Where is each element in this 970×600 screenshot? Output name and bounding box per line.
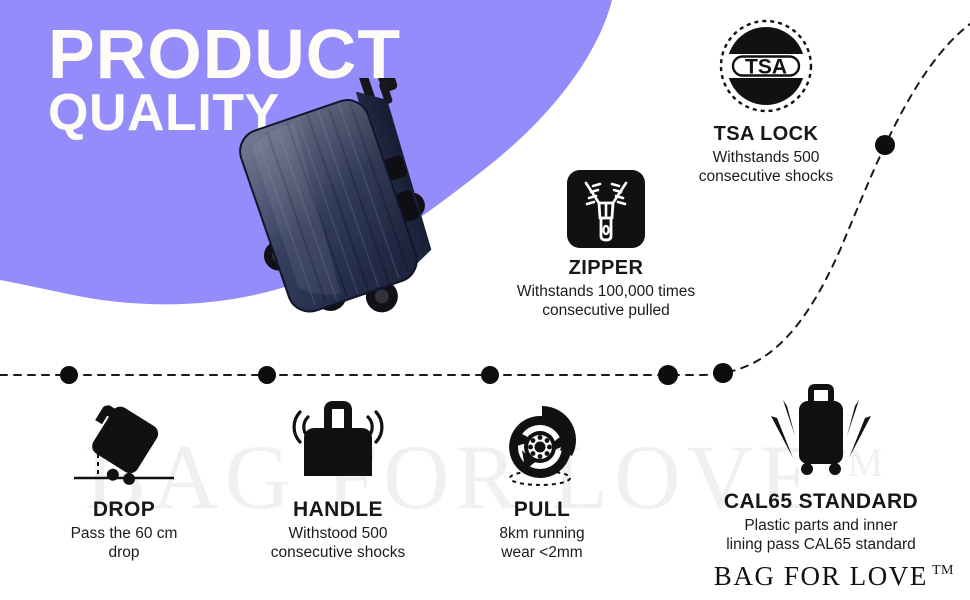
title-line-product: PRODUCT bbox=[48, 22, 401, 86]
feature-description: Pass the 60 cm drop bbox=[28, 525, 220, 563]
brand-logo: BAG FOR LOVETM bbox=[714, 561, 954, 592]
shaking-handle-bag-icon bbox=[274, 398, 402, 490]
feature-pull[interactable]: PULL 8km running wear <2mm bbox=[452, 398, 632, 563]
feature-description: Withstands 100,000 times consecutive pul… bbox=[470, 283, 742, 320]
brand-name: BAG FOR LOVE bbox=[714, 561, 928, 591]
feature-handle[interactable]: HANDLE Withstood 500 consecutive shocks bbox=[240, 398, 436, 563]
feature-drop[interactable]: DROP Pass the 60 cm drop bbox=[28, 398, 220, 563]
impact-spikes-left bbox=[771, 400, 795, 458]
feature-cal65[interactable]: CAL65 STANDARD Plastic parts and inner l… bbox=[672, 382, 970, 555]
feature-description: Withstood 500 consecutive shocks bbox=[240, 525, 436, 563]
brand-tm: TM bbox=[932, 563, 954, 578]
feature-description: Plastic parts and inner lining pass CAL6… bbox=[672, 517, 970, 555]
feature-title: HANDLE bbox=[240, 498, 436, 522]
impact-suitcase-icon bbox=[753, 382, 889, 482]
feature-tsa-lock[interactable]: TSA TSA LOCK Withstands 500 consecutive … bbox=[640, 18, 892, 186]
spinner-wheel-icon bbox=[486, 398, 598, 490]
feature-title: ZIPPER bbox=[470, 257, 742, 280]
feature-title: CAL65 STANDARD bbox=[672, 490, 970, 514]
feature-title: TSA LOCK bbox=[640, 123, 892, 146]
zipper-icon bbox=[567, 170, 645, 248]
feature-title: DROP bbox=[28, 498, 220, 522]
infographic-poster: BAG FOR LOVETM PRODUCT QUALITY bbox=[0, 0, 970, 600]
dropping-suitcase-icon bbox=[62, 398, 186, 490]
feature-zipper[interactable]: ZIPPER Withstands 100,000 times consecut… bbox=[470, 170, 742, 320]
tsa-icon-label: TSA bbox=[745, 56, 787, 79]
feature-title: PULL bbox=[452, 498, 632, 522]
impact-spikes-right bbox=[847, 400, 871, 458]
hero-suitcase-image bbox=[216, 78, 482, 330]
tsa-lock-icon: TSA bbox=[718, 18, 814, 114]
feature-description: 8km running wear <2mm bbox=[452, 525, 632, 563]
